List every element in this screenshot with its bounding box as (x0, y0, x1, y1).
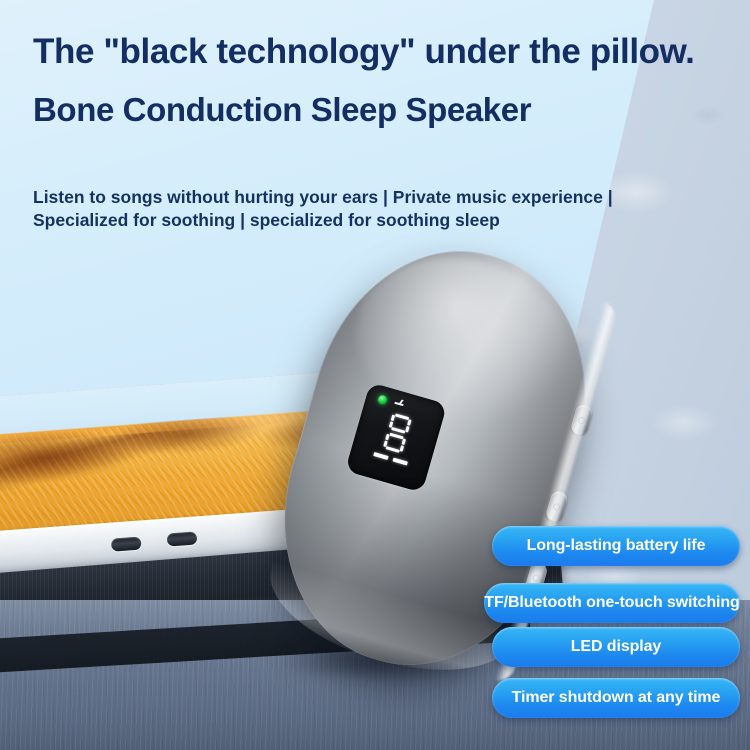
product-ad-banner: The "black technology" under the pillow.… (0, 0, 750, 750)
feature-pill-bluetooth[interactable]: TF/Bluetooth one-touch switching (484, 583, 740, 623)
feature-pill-timer[interactable]: Timer shutdown at any time (492, 678, 740, 718)
feature-pill-battery[interactable]: Long-lasting battery life (492, 526, 740, 566)
feature-pill-led[interactable]: LED display (492, 627, 740, 667)
feature-pill-list: Long-lasting battery life TF/Bluetooth o… (0, 0, 750, 750)
